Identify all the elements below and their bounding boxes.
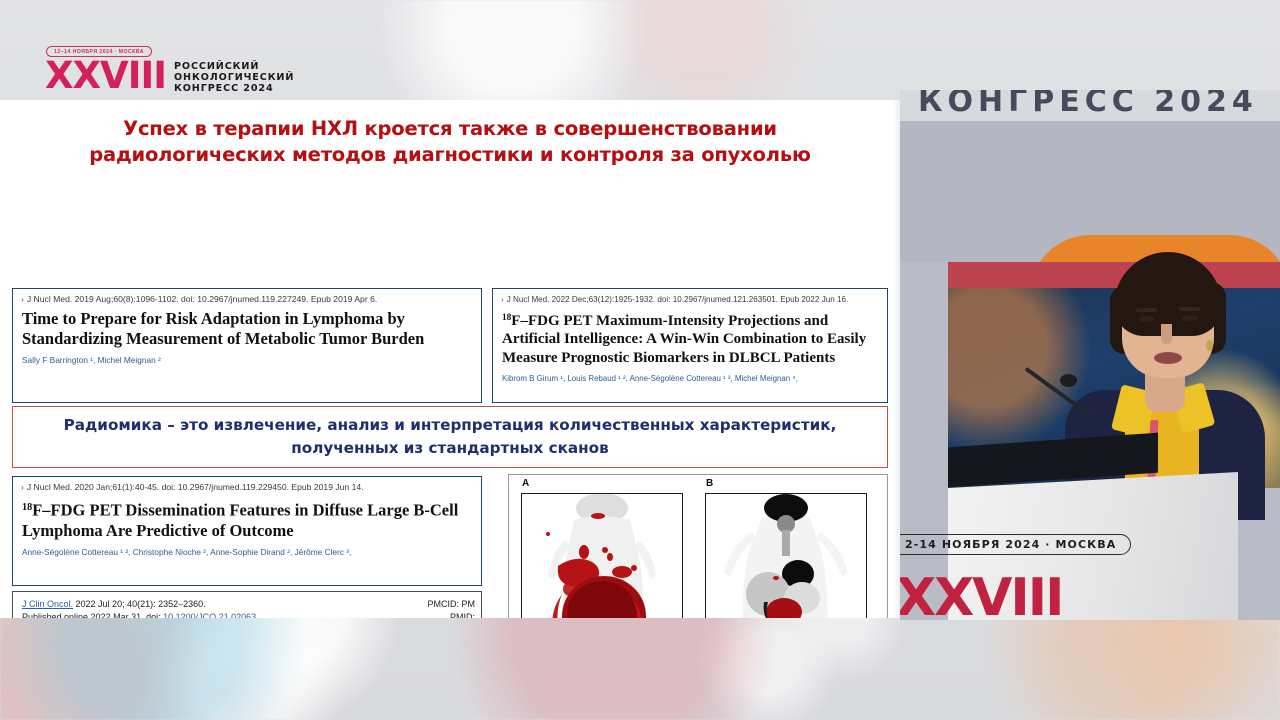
microphone-head-icon [1060, 374, 1077, 387]
jco-citation-left: J Clin Oncol. 2022 Jul 20; 40(21): 2352–… [22, 598, 206, 611]
paper-2-title-text: F–FDG PET Maximum-Intensity Projections … [502, 313, 866, 366]
speaker-earring [1206, 340, 1213, 351]
paper-2-title: 18F–FDG PET Maximum-Intensity Projection… [493, 305, 887, 368]
paper-3-title-superscript: 18 [22, 502, 32, 513]
presentation-slide: Успех в терапии НХЛ кроется также в сове… [0, 100, 900, 618]
speaker-nose [1161, 324, 1172, 344]
speaker-eyebrow-right [1179, 307, 1200, 311]
pet-scan-image-b [705, 493, 867, 618]
slide-title-line-2: радиологических методов диагностики и ко… [18, 142, 882, 168]
paper-2-citation-text: J Nucl Med. 2022 Dec;63(12):1925-1932. d… [507, 295, 849, 304]
jco-citation-row-1: J Clin Oncol. 2022 Jul 20; 40(21): 2352–… [13, 592, 481, 611]
jco-citation-rest: 2022 Jul 20; 40(21): 2352–2360. [73, 599, 206, 609]
pet-panel-a-label: A [522, 478, 529, 489]
logo-line-1: РОССИЙСКИЙ [174, 61, 294, 72]
logo-roman-numeral: XXVIII [45, 59, 166, 93]
jco-doi-link[interactable]: 10.1200/JCO.21.02063 [163, 612, 256, 618]
logo-line-3: КОНГРЕСС 2024 [174, 83, 294, 94]
logo-line-2: ОНКОЛОГИЧЕСКИЙ [174, 72, 294, 83]
paper-3-citation-text: J Nucl Med. 2020 Jan;61(1):40-45. doi: 1… [27, 482, 364, 492]
paper-3-title-text: F–FDG PET Dissemination Features in Diff… [22, 500, 458, 540]
logo-wordmark: РОССИЙСКИЙ ОНКОЛОГИЧЕСКИЙ КОНГРЕСС 2024 [174, 61, 294, 95]
speaker-mouth [1154, 352, 1182, 364]
paper-citation-card-jco: J Clin Oncol. 2022 Jul 20; 40(21): 2352–… [12, 591, 482, 618]
paper-3-citation-line: ›J Nucl Med. 2020 Jan;61(1):40-45. doi: … [13, 477, 481, 493]
speaker-video-panel[interactable]: КОНГРЕСС 2024 2-14 НОЯБРЯ 2024 · МОСКВА … [900, 90, 1280, 620]
slide-title-line-1: Успех в терапии НХЛ кроется также в сове… [18, 116, 882, 142]
pet-scan-b-graphic [706, 494, 866, 618]
paper-3-title: 18F–FDG PET Dissemination Features in Di… [13, 493, 481, 541]
paper-citation-card-2: ›J Nucl Med. 2022 Dec;63(12):1925-1932. … [492, 288, 888, 403]
paper-1-citation-line: ›J Nucl Med. 2019 Aug;60(8):1096-1102. d… [13, 289, 481, 305]
jco-citation-row-2: Published online 2022 Mar 31. doi: 10.12… [13, 611, 481, 618]
header-logo-strip: 12–14 НОЯБРЯ 2024 · МОСКВА XXVIII РОССИЙ… [0, 0, 1280, 100]
radiomics-text: Радиомика – это извлечение, анализ и инт… [13, 414, 887, 460]
chevron-right-icon: › [21, 482, 24, 492]
paper-1-authors: Sally F Barrington ¹, Michel Meignan ² [13, 349, 481, 366]
video-screen-text: КОНГРЕСС 2024 [918, 90, 1278, 119]
logo-main: XXVIII РОССИЙСКИЙ ОНКОЛОГИЧЕСКИЙ КОНГРЕС… [45, 59, 294, 95]
speaker-eye-right [1182, 315, 1198, 321]
pet-panel-b-label: B [706, 478, 713, 489]
paper-citation-card-1: ›J Nucl Med. 2019 Aug;60(8):1096-1102. d… [12, 288, 482, 403]
jco-pmcid: PMCID: PM [427, 598, 475, 611]
pet-scan-figure: A B [508, 474, 888, 618]
jco-journal-link[interactable]: J Clin Oncol. [22, 599, 73, 609]
slide-right-edge [888, 100, 900, 618]
podium-date-badge: 2-14 НОЯБРЯ 2024 · МОСКВА [900, 534, 1131, 555]
radiomics-definition-banner: Радиомика – это извлечение, анализ и инт… [12, 406, 888, 468]
jco-published-prefix: Published online 2022 Mar 31. doi: [22, 612, 163, 618]
jco-published-left: Published online 2022 Mar 31. doi: 10.12… [22, 611, 256, 618]
chevron-right-icon: › [21, 294, 24, 304]
paper-2-title-superscript: 18 [502, 313, 511, 323]
paper-3-authors: Anne-Ségolène Cottereau ¹ ², Christophe … [13, 541, 481, 558]
paper-2-citation-line: ›J Nucl Med. 2022 Dec;63(12):1925-1932. … [493, 289, 887, 305]
pet-scan-image-a [521, 493, 683, 618]
chevron-right-icon: › [501, 295, 504, 304]
speaker-eyebrow-left [1136, 308, 1157, 312]
podium-roman-numeral: XXVIII [900, 568, 1062, 620]
paper-citation-card-3: ›J Nucl Med. 2020 Jan;61(1):40-45. doi: … [12, 476, 482, 586]
pet-scan-a-graphic [522, 494, 682, 618]
paper-1-title: Time to Prepare for Risk Adaptation in L… [13, 305, 481, 349]
slide-title: Успех в терапии НХЛ кроется также в сове… [18, 116, 882, 168]
radiomics-line-2: полученных из стандартных сканов [291, 439, 608, 457]
paper-2-authors: Kibrom B Girum ¹, Louis Rebaud ¹ ², Anne… [493, 368, 887, 385]
radiomics-line-1: Радиомика – это извлечение, анализ и инт… [64, 416, 837, 434]
congress-logo: 12–14 НОЯБРЯ 2024 · МОСКВА XXVIII РОССИЙ… [45, 46, 294, 95]
speaker-eye-left [1139, 316, 1155, 322]
paper-1-citation-text: J Nucl Med. 2019 Aug;60(8):1096-1102. do… [27, 294, 377, 304]
jco-pmid: PMID: [450, 611, 475, 618]
